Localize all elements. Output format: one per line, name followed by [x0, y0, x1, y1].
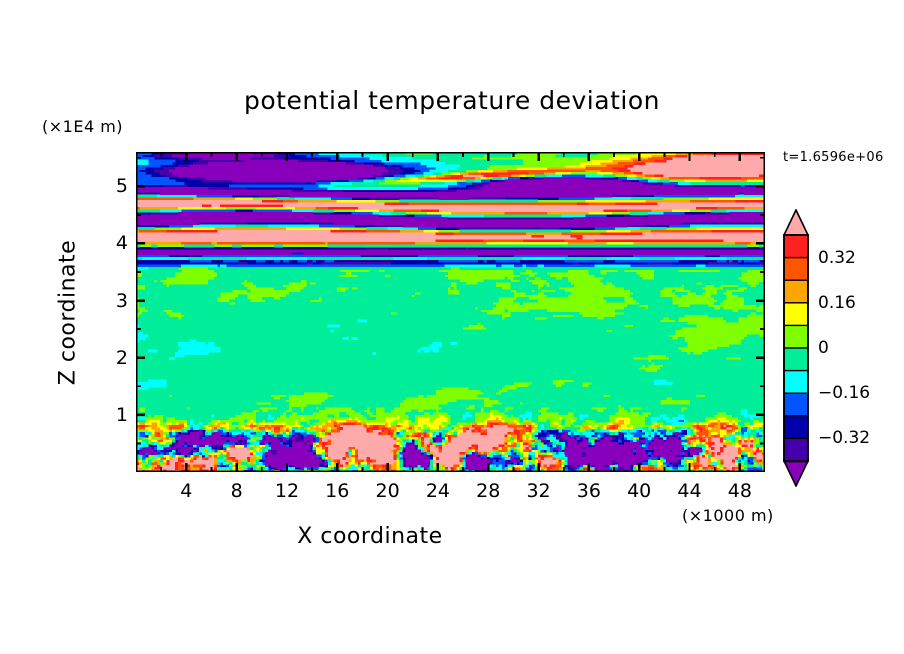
x-tick-label: 8	[231, 480, 243, 502]
colorbar-tick-label: 0.16	[818, 293, 856, 313]
page-title: potential temperature deviation	[0, 86, 904, 115]
y-tick-label: 2	[102, 347, 128, 369]
y-tick-label: 4	[102, 232, 128, 254]
contour-plot-area[interactable]	[136, 152, 765, 472]
x-tick-label: 24	[426, 480, 450, 502]
x-tick-label: 20	[376, 480, 400, 502]
x-tick-label: 48	[728, 480, 752, 502]
y-axis-label: Z coordinate	[56, 213, 81, 413]
time-annotation: t=1.6596e+06	[783, 150, 884, 165]
colorbar-tick-label: −0.16	[818, 383, 870, 403]
y-tick-label: 5	[102, 175, 128, 197]
colorbar[interactable]	[783, 209, 809, 487]
x-tick-label: 36	[577, 480, 601, 502]
y-tick-label: 3	[102, 290, 128, 312]
x-tick-label: 16	[325, 480, 349, 502]
x-tick-label: 28	[476, 480, 500, 502]
x-axis-unit-label: (×1000 m)	[682, 506, 774, 525]
colorbar-tick-label: 0.32	[818, 248, 856, 268]
x-tick-label: 4	[180, 480, 192, 502]
colorbar-tick-label: −0.32	[818, 428, 870, 448]
y-tick-label: 1	[102, 404, 128, 426]
x-tick-label: 12	[275, 480, 299, 502]
x-tick-label: 44	[677, 480, 701, 502]
x-axis-label: X coordinate	[0, 524, 740, 549]
colorbar-swatches	[783, 209, 809, 487]
x-tick-label: 32	[526, 480, 550, 502]
colorbar-tick-label: 0	[818, 338, 829, 358]
y-axis-unit-label: (×1E4 m)	[42, 117, 123, 136]
x-tick-label: 40	[627, 480, 651, 502]
contour-field	[136, 152, 765, 472]
